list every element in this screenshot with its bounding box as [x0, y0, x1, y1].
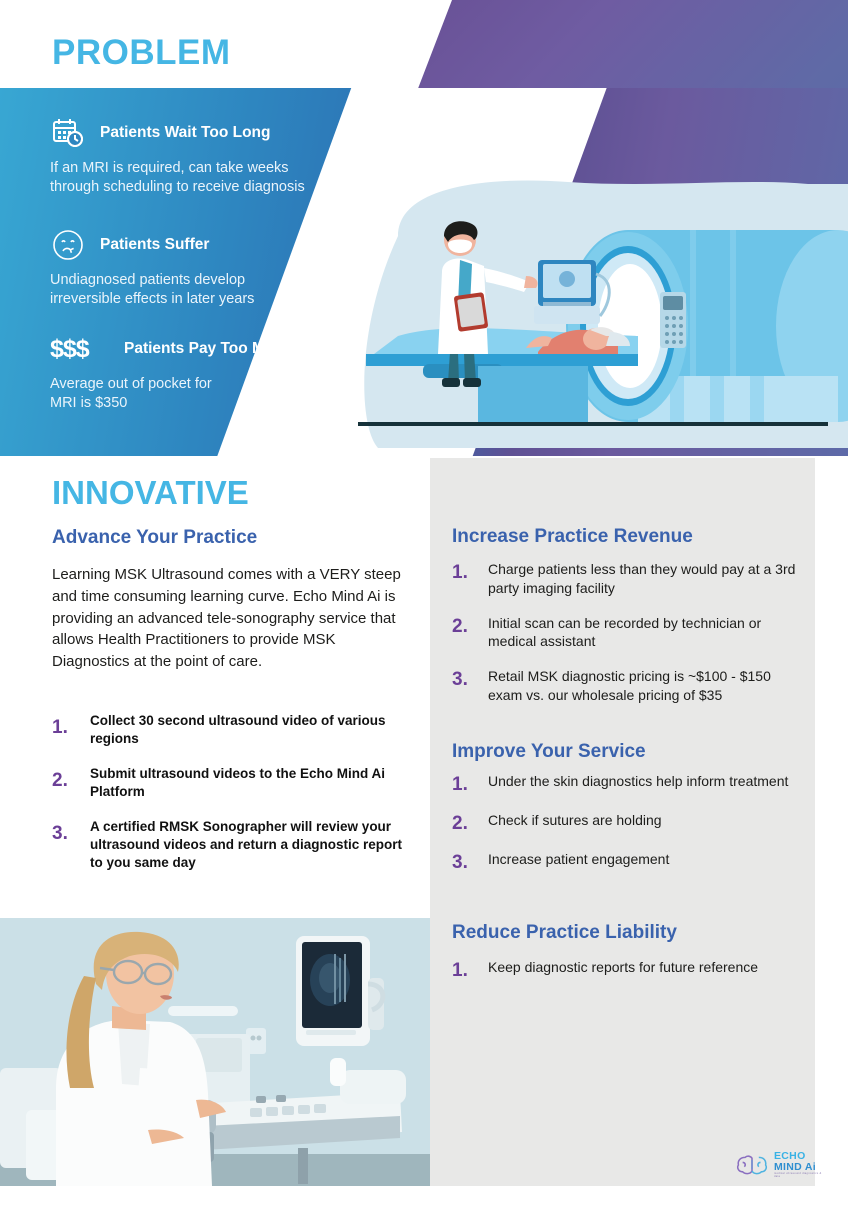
list-item: 3. Increase patient engagement — [452, 850, 800, 873]
logo-text: ECHO MIND Ai medical ultrasound diagnost… — [774, 1151, 827, 1178]
sonographer-photo — [0, 918, 430, 1186]
problem-item-heading: Patients Wait Too Long — [100, 124, 271, 142]
problem-item-body: If an MRI is required, can take weeks th… — [50, 159, 305, 197]
service-heading: Improve Your Service — [452, 741, 646, 763]
mri-illustration — [338, 176, 848, 456]
brain-icon — [735, 1152, 769, 1178]
liability-heading: Reduce Practice Liability — [452, 922, 677, 944]
problem-item-head: Patients Wait Too Long — [50, 116, 305, 150]
list-number: 2. — [52, 771, 78, 791]
problem-item-head: Patients Suffer — [50, 228, 254, 262]
list-item: 3. Retail MSK diagnostic pricing is ~$10… — [452, 667, 800, 705]
list-item: 2. Check if sutures are holding — [452, 811, 800, 834]
list-number: 3. — [52, 824, 78, 844]
list-text: Collect 30 second ultrasound video of va… — [90, 712, 404, 748]
problem-item-pay: $$$ Patients Pay Too Much Average out of… — [50, 332, 293, 413]
list-text: Check if sutures are holding — [488, 811, 800, 830]
advance-heading: Advance Your Practice — [52, 527, 257, 549]
list-number: 3. — [452, 670, 476, 690]
purple-wedge-shape — [375, 0, 848, 92]
problem-item-head: $$$ Patients Pay Too Much — [50, 332, 293, 366]
list-item: 2. Submit ultrasound videos to the Echo … — [52, 765, 404, 801]
list-item: 1. Keep diagnostic reports for future re… — [452, 958, 800, 981]
problem-item-heading: Patients Pay Too Much — [124, 340, 293, 358]
list-number: 2. — [452, 617, 476, 637]
list-text: A certified RMSK Sonographer will review… — [90, 818, 404, 872]
dollar-signs-icon: $$$ — [50, 332, 110, 366]
list-text: Retail MSK diagnostic pricing is ~$100 -… — [488, 667, 800, 705]
problem-item-wait: Patients Wait Too Long If an MRI is requ… — [50, 116, 305, 197]
advance-steps-list: 1. Collect 30 second ultrasound video of… — [52, 712, 404, 889]
list-text: Charge patients less than they would pay… — [488, 560, 800, 598]
list-number: 2. — [452, 814, 476, 834]
problem-item-body: Average out of pocket for MRI is $350 — [50, 375, 293, 413]
list-item: 1. Charge patients less than they would … — [452, 560, 800, 598]
list-item: 2. Initial scan can be recorded by techn… — [452, 614, 800, 652]
list-item: 1. Collect 30 second ultrasound video of… — [52, 712, 404, 748]
list-item: 1. Under the skin diagnostics help infor… — [452, 772, 800, 795]
list-text: Increase patient engagement — [488, 850, 800, 869]
list-number: 3. — [452, 853, 476, 873]
echo-mind-ai-logo: ECHO MIND Ai medical ultrasound diagnost… — [735, 1148, 827, 1182]
logo-line-2: MIND Ai — [774, 1162, 827, 1173]
revenue-heading: Increase Practice Revenue — [452, 526, 693, 548]
logo-tagline: medical ultrasound diagnostics & data — [774, 1173, 827, 1178]
advance-paragraph: Learning MSK Ultrasound comes with a VER… — [52, 564, 404, 673]
sad-face-icon — [50, 228, 86, 262]
problem-item-suffer: Patients Suffer Undiagnosed patients dev… — [50, 228, 254, 309]
page-title-innovative: INNOVATIVE — [52, 474, 249, 512]
revenue-list: 1. Charge patients less than they would … — [452, 560, 800, 721]
liability-list: 1. Keep diagnostic reports for future re… — [452, 958, 800, 997]
dollar-signs-text: $$$ — [50, 337, 89, 362]
list-text: Under the skin diagnostics help inform t… — [488, 772, 800, 791]
list-text: Submit ultrasound videos to the Echo Min… — [90, 765, 404, 801]
problem-item-heading: Patients Suffer — [100, 236, 209, 254]
problem-item-body: Undiagnosed patients develop irreversibl… — [50, 271, 254, 309]
page-title-problem: PROBLEM — [52, 33, 231, 73]
infographic-page: PROBLEM — [0, 0, 848, 1206]
list-number: 1. — [452, 563, 476, 583]
list-item: 3. A certified RMSK Sonographer will rev… — [52, 818, 404, 872]
list-text: Initial scan can be recorded by technici… — [488, 614, 800, 652]
service-list: 1. Under the skin diagnostics help infor… — [452, 772, 800, 889]
list-number: 1. — [452, 961, 476, 981]
calendar-clock-icon — [50, 116, 86, 150]
list-number: 1. — [52, 718, 78, 738]
list-text: Keep diagnostic reports for future refer… — [488, 958, 800, 977]
list-number: 1. — [452, 775, 476, 795]
